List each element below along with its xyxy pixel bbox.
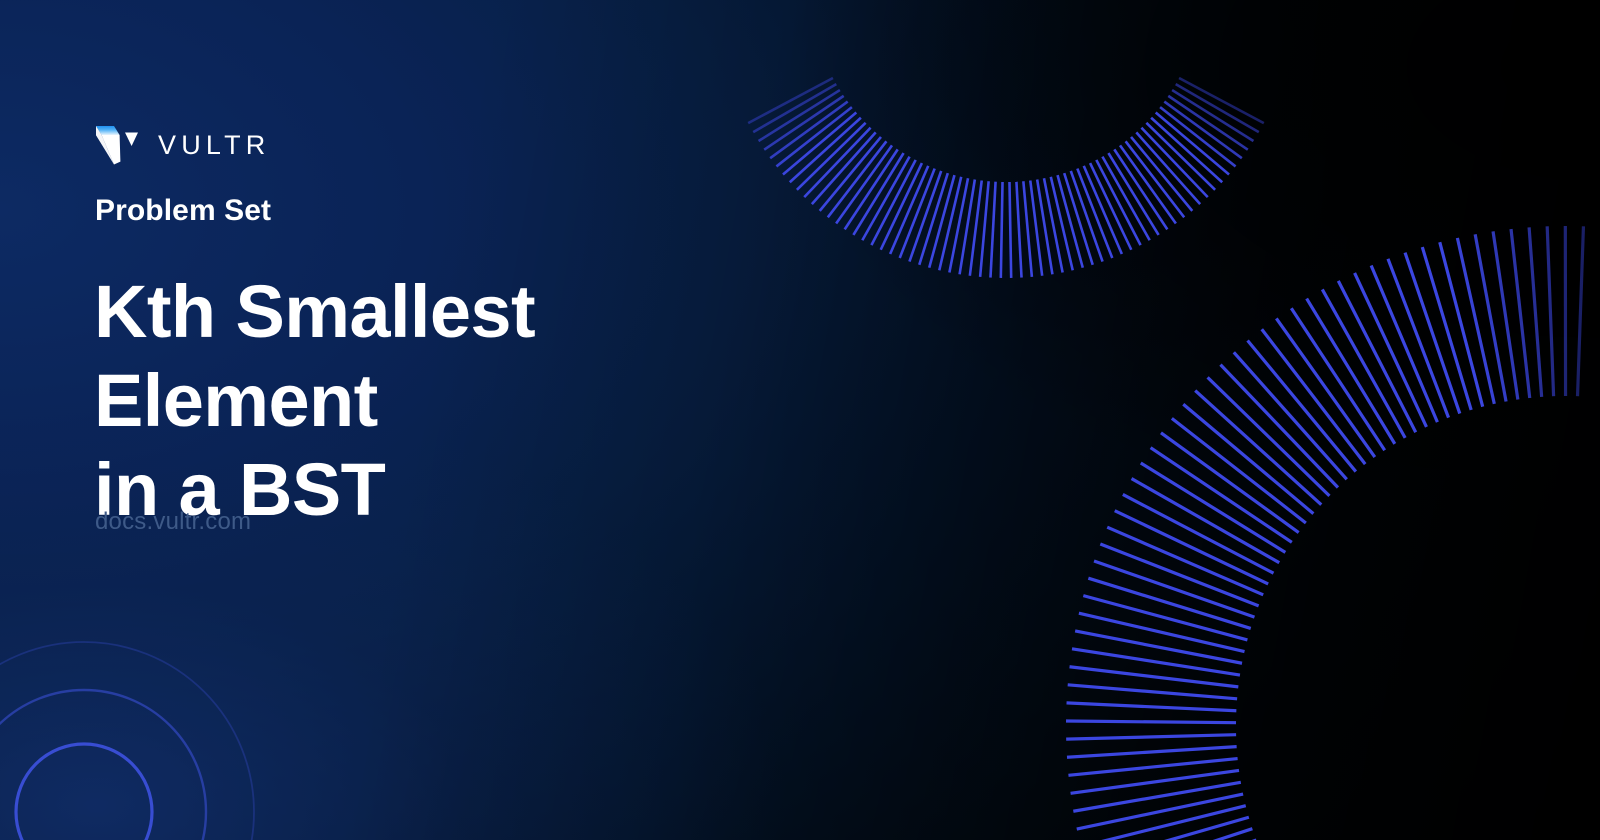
share-card-canvas: VULTR Problem Set Kth Smallest Element i… bbox=[0, 0, 1600, 840]
page-title-line-1: Kth Smallest Element bbox=[94, 270, 535, 442]
card-content: VULTR Problem Set Kth Smallest Element i… bbox=[94, 0, 854, 840]
site-url-label: docs.vultr.com bbox=[95, 508, 251, 537]
vultr-v-logo-icon bbox=[94, 123, 140, 167]
eyebrow-label: Problem Set bbox=[95, 193, 271, 229]
page-title: Kth Smallest Element in a BST bbox=[94, 268, 834, 534]
brand-lockup: VULTR bbox=[94, 122, 271, 168]
vultr-wordmark: VULTR bbox=[158, 132, 271, 159]
